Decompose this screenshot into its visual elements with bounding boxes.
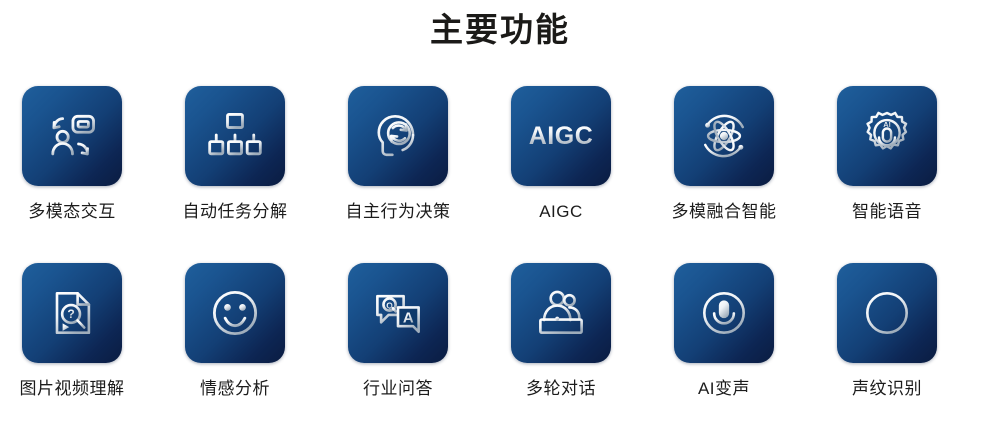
feature-label: 多轮对话 [526, 379, 596, 399]
feature-label: 情感分析 [200, 379, 270, 399]
feature-label: 自主行为决策 [346, 202, 451, 222]
feature-label: 多模态交互 [28, 202, 116, 222]
feature-tile[interactable] [837, 263, 937, 363]
qa-speech-bubbles-icon: A Q [368, 283, 428, 343]
feature-tile[interactable]: AI [837, 86, 937, 186]
head-refresh-decision-icon [368, 106, 428, 166]
feature-tile[interactable] [674, 86, 774, 186]
feature-item-multimodal-interaction[interactable]: 多模态交互 [22, 86, 122, 222]
features-grid: 多模态交互 自动任务分解 [0, 86, 1000, 399]
question-letter-text: Q [386, 300, 393, 310]
feature-label: 声纹识别 [852, 379, 922, 399]
feature-label: 自动任务分解 [183, 202, 288, 222]
feature-item-multi-turn-dialogue[interactable]: 多轮对话 [511, 263, 611, 399]
feature-tile[interactable]: ? [22, 263, 122, 363]
group-dialogue-icon [531, 283, 591, 343]
features-row-2: ? 图片视频理解 情感分析 [0, 263, 1000, 399]
feature-item-autonomous-decision[interactable]: 自主行为决策 [348, 86, 448, 222]
ai-badge-text: AI [883, 120, 891, 129]
feature-tile[interactable] [185, 86, 285, 186]
feature-tile[interactable] [511, 263, 611, 363]
feature-item-aigc[interactable]: AIGC AIGC [511, 86, 611, 222]
feature-label: AIGC [539, 202, 583, 222]
feature-tile[interactable] [22, 86, 122, 186]
task-decomposition-tree-icon [205, 106, 265, 166]
feature-tile[interactable] [674, 263, 774, 363]
gear-microphone-ai-icon: AI [857, 106, 917, 166]
feature-label: AI变声 [698, 379, 750, 399]
answer-letter-text: A [403, 309, 414, 326]
feature-item-industry-qa[interactable]: A Q 行业问答 [348, 263, 448, 399]
feature-item-ai-voice-changer[interactable]: AI变声 [674, 263, 774, 399]
multimodal-interaction-icon [42, 106, 102, 166]
voiceprint-waveform-circle-icon [857, 283, 917, 343]
feature-tile[interactable]: A Q [348, 263, 448, 363]
feature-label: 多模融合智能 [672, 202, 777, 222]
page-title: 主要功能 [0, 0, 1000, 53]
feature-tile[interactable] [185, 263, 285, 363]
feature-item-sentiment-analysis[interactable]: 情感分析 [185, 263, 285, 399]
feature-tile[interactable] [348, 86, 448, 186]
smiley-face-icon [205, 283, 265, 343]
feature-item-intelligent-voice[interactable]: AI 智能语音 [837, 86, 937, 222]
feature-item-voiceprint-recognition[interactable]: 声纹识别 [837, 263, 937, 399]
feature-item-task-decomposition[interactable]: 自动任务分解 [185, 86, 285, 222]
features-row-1: 多模态交互 自动任务分解 [0, 86, 1000, 222]
feature-item-multimodal-fusion[interactable]: 多模融合智能 [674, 86, 774, 222]
question-mark-text: ? [67, 307, 74, 321]
aigc-text-icon: AIGC [529, 122, 594, 151]
feature-label: 图片视频理解 [20, 379, 125, 399]
atom-fusion-icon [694, 106, 754, 166]
document-magnifier-question-icon: ? [42, 283, 102, 343]
feature-tile[interactable]: AIGC [511, 86, 611, 186]
feature-label: 行业问答 [363, 379, 433, 399]
microphone-circle-icon [694, 283, 754, 343]
feature-label: 智能语音 [852, 202, 922, 222]
feature-item-image-video-understanding[interactable]: ? 图片视频理解 [22, 263, 122, 399]
